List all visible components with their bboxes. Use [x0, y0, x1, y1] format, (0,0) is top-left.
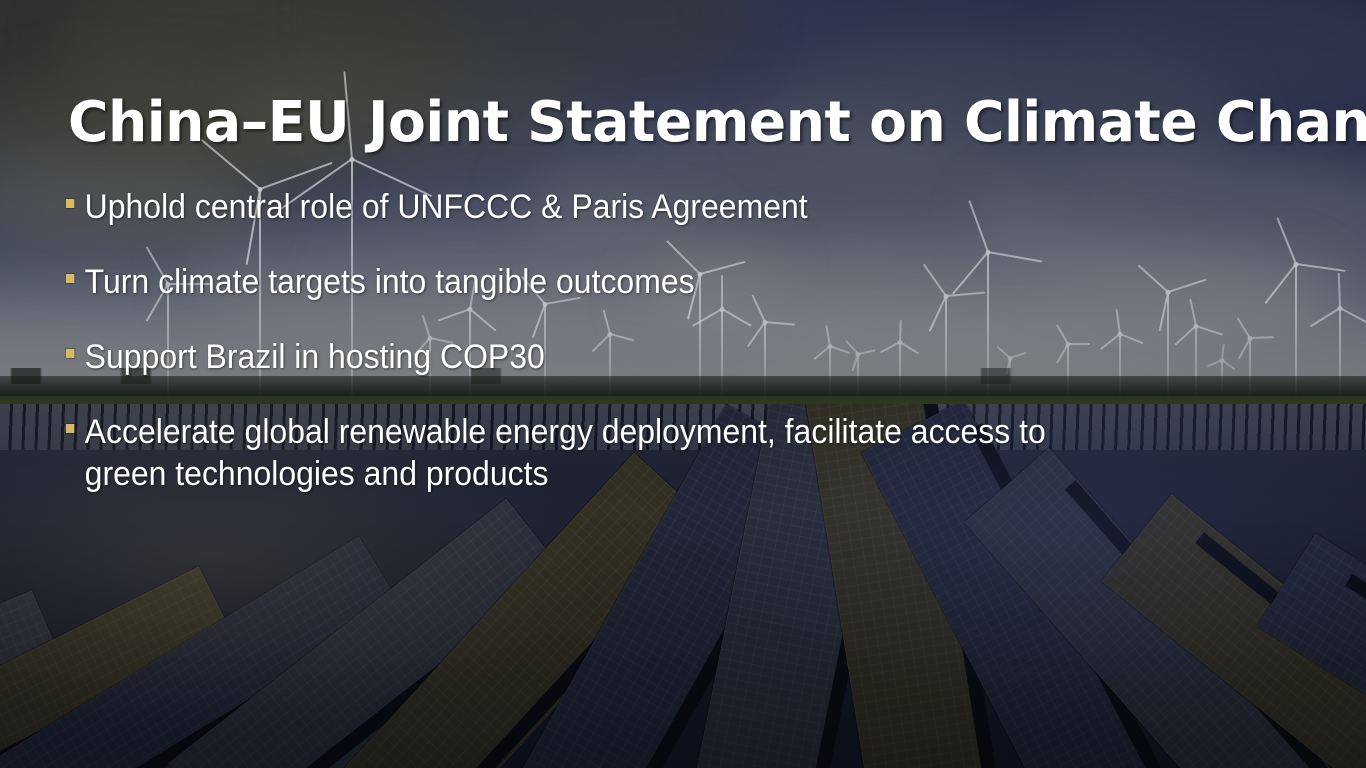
- bullet-item-4: Accelerate global renewable energy deplo…: [64, 411, 1089, 495]
- bullet-item-1: Uphold central role of UNFCCC & Paris Ag…: [64, 186, 1089, 228]
- square-bullet-icon: [66, 424, 74, 433]
- presentation-slide: China–EU Joint Statement on Climate Chan…: [0, 0, 1366, 768]
- bullet-text: Support Brazil in hosting COP30: [85, 338, 545, 376]
- slide-content: China–EU Joint Statement on Climate Chan…: [0, 0, 1366, 768]
- bullet-item-2: Turn climate targets into tangible outco…: [64, 261, 1089, 303]
- bullet-list: Uphold central role of UNFCCC & Paris Ag…: [64, 186, 1154, 495]
- square-bullet-icon: [66, 199, 74, 208]
- bullet-text: Accelerate global renewable energy deplo…: [85, 413, 1046, 493]
- square-bullet-icon: [66, 349, 74, 358]
- slide-title: China–EU Joint Statement on Climate Chan…: [68, 92, 1289, 154]
- square-bullet-icon: [66, 274, 74, 283]
- bullet-item-3: Support Brazil in hosting COP30: [64, 336, 1089, 378]
- bullet-text: Turn climate targets into tangible outco…: [85, 263, 695, 301]
- bullet-text: Uphold central role of UNFCCC & Paris Ag…: [85, 188, 808, 226]
